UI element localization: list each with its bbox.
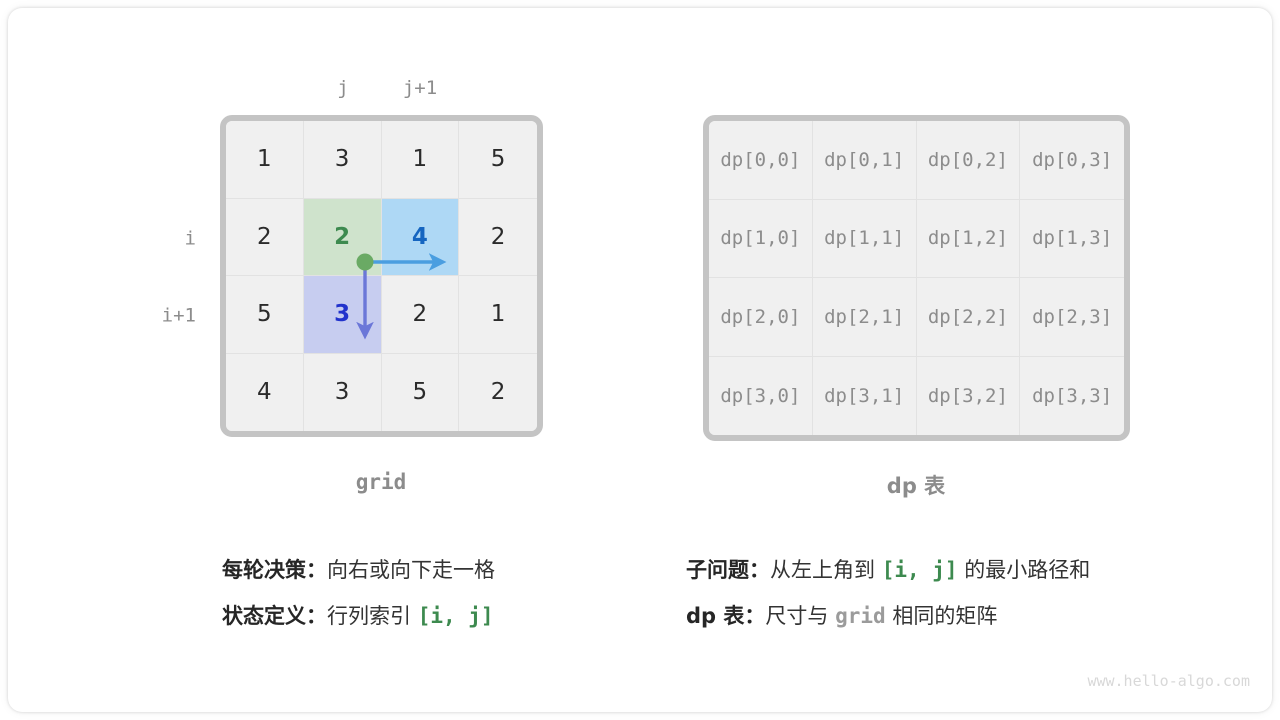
dp-cell-1-1: dp[1,1] <box>813 200 917 279</box>
grid-cell-2-0: 5 <box>226 276 304 354</box>
legend-right-line-2: dp 表：尺寸与 grid 相同的矩阵 <box>686 606 997 627</box>
grid-caption: grid <box>356 470 407 494</box>
legend-left-line-1-label: 每轮决策： <box>222 558 327 582</box>
dp-cell-0-3: dp[0,3] <box>1020 121 1124 200</box>
grid-cell-1-2: 4 <box>382 199 460 277</box>
grid-cell-1-3: 2 <box>459 199 537 277</box>
legend-left-line-1-text: 向右或向下走一格 <box>327 558 495 582</box>
dp-cell-3-1: dp[3,1] <box>813 357 917 436</box>
dp-cell-2-1: dp[2,1] <box>813 278 917 357</box>
dp-cell-0-1: dp[0,1] <box>813 121 917 200</box>
grid-cell-2-3: 1 <box>459 276 537 354</box>
dp-cell-3-0: dp[3,0] <box>709 357 813 436</box>
dp-cell-1-2: dp[1,2] <box>917 200 1021 279</box>
diagram-stage: j j+1 i i+1 1315224253214352 dp[0,0]dp[0… <box>0 0 1280 720</box>
legend-left-line-2-text-before: 行列索引 <box>327 604 418 628</box>
legend-left-line-2: 状态定义：行列索引 [i, j] <box>222 606 494 627</box>
dp-table-matrix: dp[0,0]dp[0,1]dp[0,2]dp[0,3]dp[1,0]dp[1,… <box>703 115 1130 441</box>
grid-cell-0-2: 1 <box>382 121 460 199</box>
grid-cell-0-1: 3 <box>304 121 382 199</box>
legend-left-line-2-label: 状态定义： <box>222 604 327 628</box>
grid-cell-0-0: 1 <box>226 121 304 199</box>
legend-right-line-1-label: 子问题： <box>686 558 770 582</box>
legend-right-line-1-code: [i, j] <box>882 558 958 582</box>
legend-right-line-1-text-before: 从左上角到 <box>770 558 882 582</box>
legend-right-line-2-code: grid <box>835 604 886 628</box>
dp-cell-3-3: dp[3,3] <box>1020 357 1124 436</box>
legend-left-line-2-code: [i, j] <box>418 604 494 628</box>
legend-right-line-1: 子问题：从左上角到 [i, j] 的最小路径和 <box>686 560 1090 581</box>
legend-right-line-1-text-after: 的最小路径和 <box>958 558 1091 582</box>
grid-cell-3-0: 4 <box>226 354 304 432</box>
grid-cell-3-1: 3 <box>304 354 382 432</box>
legend-right-line-2-label: dp 表： <box>686 604 765 628</box>
grid-cell-1-1: 2 <box>304 199 382 277</box>
grid-row-label-i-plus-1: i+1 <box>146 307 196 326</box>
dp-cell-1-0: dp[1,0] <box>709 200 813 279</box>
grid-row-label-i: i <box>146 230 196 249</box>
grid-cell-2-1: 3 <box>304 276 382 354</box>
dp-cell-1-3: dp[1,3] <box>1020 200 1124 279</box>
grid-cell-0-3: 5 <box>459 121 537 199</box>
dp-cell-2-3: dp[2,3] <box>1020 278 1124 357</box>
site-watermark: www.hello-algo.com <box>1087 672 1250 690</box>
dp-cell-3-2: dp[3,2] <box>917 357 1021 436</box>
legend-left-line-1: 每轮决策：向右或向下走一格 <box>222 560 495 581</box>
dp-cell-2-0: dp[2,0] <box>709 278 813 357</box>
grid-col-label-j-plus-1: j+1 <box>403 79 437 98</box>
grid-matrix: 1315224253214352 <box>220 115 543 437</box>
dp-table-caption: dp 表 <box>887 470 945 500</box>
grid-cell-3-2: 5 <box>382 354 460 432</box>
dp-cell-0-2: dp[0,2] <box>917 121 1021 200</box>
dp-cell-2-2: dp[2,2] <box>917 278 1021 357</box>
grid-cell-1-0: 2 <box>226 199 304 277</box>
grid-cell-2-2: 2 <box>382 276 460 354</box>
grid-col-label-j: j <box>337 79 348 98</box>
grid-cell-3-3: 2 <box>459 354 537 432</box>
legend-right-line-2-text-after: 相同的矩阵 <box>886 604 998 628</box>
legend-right-line-2-text-before: 尺寸与 <box>765 604 835 628</box>
dp-cell-0-0: dp[0,0] <box>709 121 813 200</box>
